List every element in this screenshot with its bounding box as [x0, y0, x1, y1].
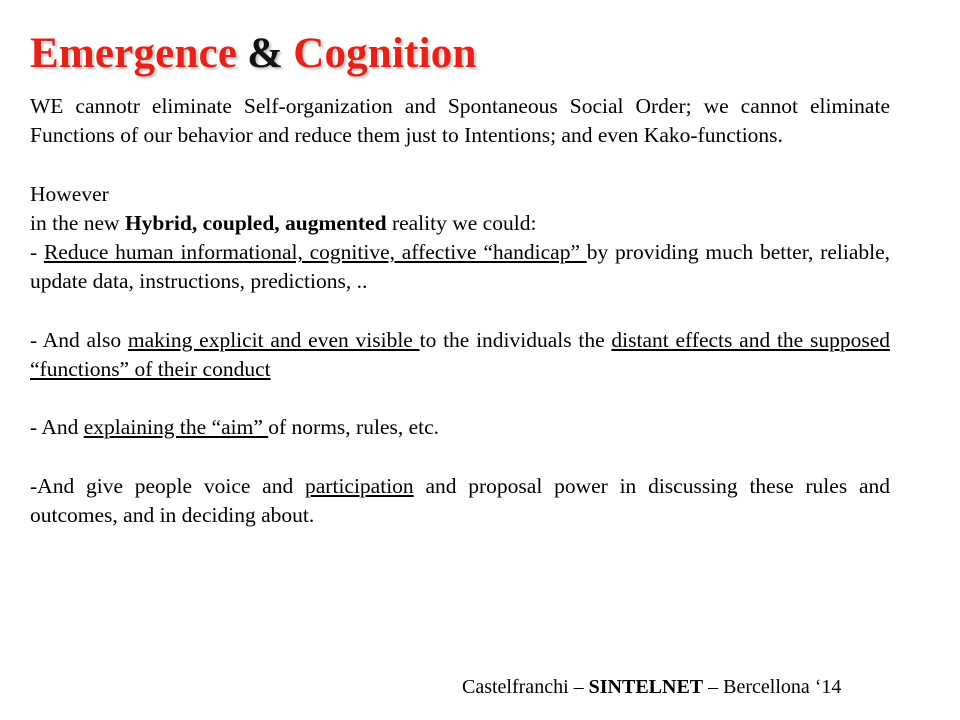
- title-word-emergence: Emergence: [30, 30, 237, 77]
- title-word-cognition: Cognition: [293, 30, 476, 77]
- footer-dash-two: –: [703, 676, 723, 698]
- bullet-dash: -: [30, 328, 43, 352]
- bullet-participation-lead: And give people voice and: [37, 474, 305, 498]
- bullet-reduce-handicap-underlined: Reduce human informational, cognitive, a…: [44, 240, 587, 264]
- bullet-making-explicit-middle: to the individuals the: [420, 328, 612, 352]
- slide-footer: Castelfranchi – SINTELNET – Bercellona ‘…: [462, 674, 841, 700]
- paragraph-hybrid-reality: in the new Hybrid, coupled, augmented re…: [30, 209, 890, 238]
- paragraph-spacer: [30, 442, 890, 471]
- bullet-participation-underlined: participation: [305, 474, 414, 498]
- slide-body: WE cannotr eliminate Self-organization a…: [30, 92, 890, 530]
- bullet-making-explicit-underlined-one: making explicit and even visible: [128, 328, 420, 352]
- slide-title: Emergence&Cognition: [30, 26, 910, 82]
- paragraph-spacer: [30, 150, 890, 179]
- paragraph-spacer: [30, 384, 890, 413]
- paragraph-spacer: [30, 296, 890, 325]
- title-ampersand: &: [237, 30, 293, 77]
- bullet-making-explicit: - And also making explicit and even visi…: [30, 326, 890, 384]
- bullet-participation: -And give people voice and participation…: [30, 472, 890, 530]
- bullet-explaining-aim-lead: And: [41, 415, 83, 439]
- footer-author: Castelfranchi: [462, 676, 574, 698]
- hybrid-reality-prefix: in the new: [30, 211, 125, 235]
- footer-event: SINTELNET: [589, 676, 704, 698]
- bullet-making-explicit-lead: And also: [43, 328, 128, 352]
- bullet-explaining-aim: - And explaining the “aim” of norms, rul…: [30, 413, 890, 442]
- hybrid-reality-bold: Hybrid, coupled, augmented: [125, 211, 387, 235]
- bullet-dash: -: [30, 415, 41, 439]
- slide-canvas: Emergence&Cognition WE cannotr eliminate…: [0, 0, 960, 720]
- bullet-explaining-aim-rest: of norms, rules, etc.: [268, 415, 439, 439]
- hybrid-reality-suffix: reality we could:: [387, 211, 537, 235]
- bullet-reduce-handicap: - Reduce human informational, cognitive,…: [30, 238, 890, 296]
- paragraph-however: However: [30, 180, 890, 209]
- bullet-dash: -: [30, 240, 44, 264]
- paragraph-intro: WE cannotr eliminate Self-organization a…: [30, 92, 890, 150]
- footer-dash-one: –: [574, 676, 589, 698]
- bullet-explaining-aim-underlined: explaining the “aim”: [84, 415, 268, 439]
- footer-location: Bercellona ‘14: [723, 676, 841, 698]
